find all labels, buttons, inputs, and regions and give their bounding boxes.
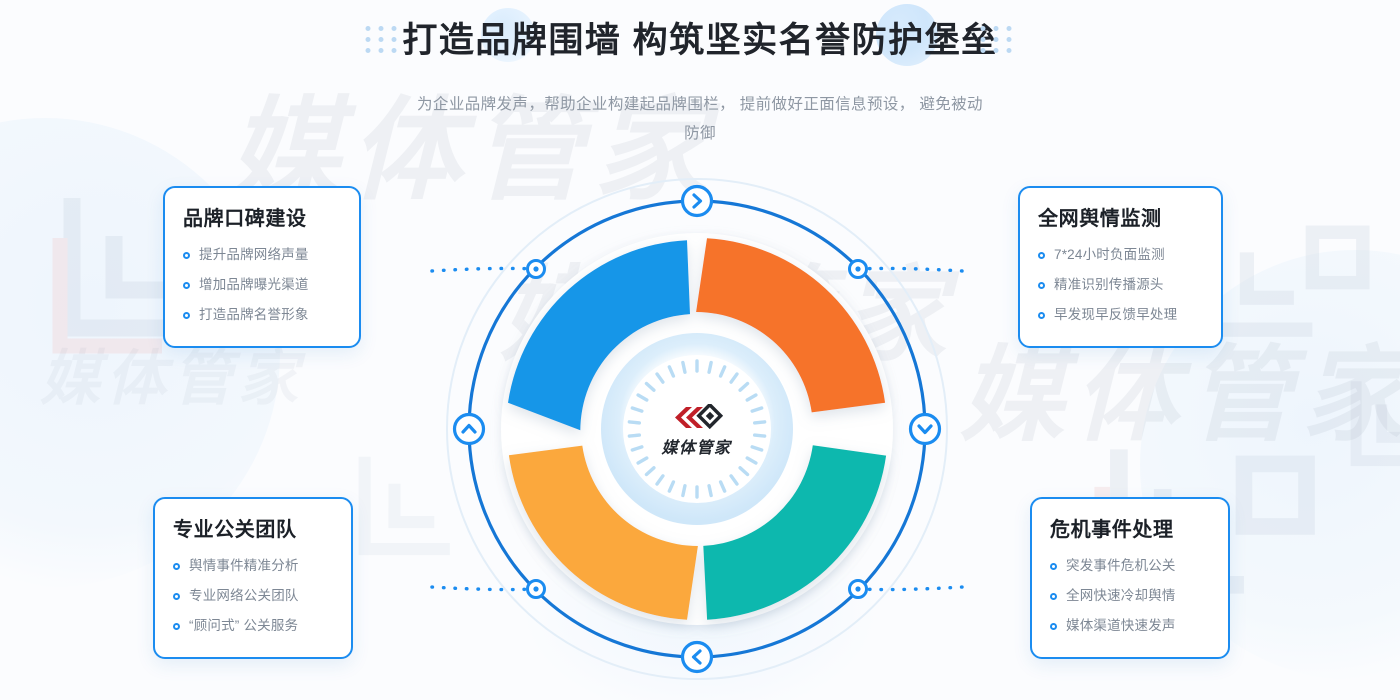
list-item-label: 精准识别传播源头 [1054,270,1164,300]
list-item: 7*24小时负面监测 [1038,240,1203,270]
bullet-icon [183,312,190,319]
list-item: 媒体渠道快速发声 [1050,611,1210,641]
hub-diagram: 媒体管家 [425,168,970,690]
page-header: 打造品牌围墙 构筑坚实名誉防护堡垒 为企业品牌发声，帮助企业构建起品牌围栏， 提… [0,0,1400,148]
bullet-icon [173,623,180,630]
list-item-label: 早发现早反馈早处理 [1054,300,1177,330]
page-subtitle: 为企业品牌发声，帮助企业构建起品牌围栏， 提前做好正面信息预设， 避免被动防御 [415,90,985,148]
list-item-label: 打造品牌名誉形象 [199,300,309,330]
list-item-label: 提升品牌网络声量 [199,240,309,270]
dot-grid-left-icon [366,26,399,53]
list-item: 打造品牌名誉形象 [183,300,341,330]
connector-line-top-left [425,268,536,276]
bullet-icon [1050,623,1057,630]
card-title: 危机事件处理 [1050,513,1210,542]
center-logo: 媒体管家 [639,373,755,489]
watermark-logo-icon [1338,369,1400,486]
list-item-label: 7*24小时负面监测 [1054,240,1165,270]
card-title: 品牌口碑建设 [183,202,341,231]
list-item: 突发事件危机公关 [1050,551,1210,581]
card-title: 全网舆情监测 [1038,202,1203,231]
card-item-list: 突发事件危机公关 全网快速冷却舆情 媒体渠道快速发声 [1050,551,1210,641]
list-item-label: 增加品牌曝光渠道 [199,270,309,300]
list-item: 专业网络公关团队 [173,581,333,611]
list-item-label: 媒体渠道快速发声 [1066,611,1176,641]
bullet-icon [183,252,190,259]
connector-line-top-right [858,268,970,276]
list-item-label: 突发事件危机公关 [1066,551,1176,581]
list-item: 全网快速冷却舆情 [1050,581,1210,611]
list-item: 舆情事件精准分析 [173,551,333,581]
connector-node-top-right[interactable] [850,261,867,278]
list-item: 早发现早反馈早处理 [1038,300,1203,330]
card-title: 专业公关团队 [173,513,333,542]
card-pr-team[interactable]: 专业公关团队 舆情事件精准分析 专业网络公关团队 “顾问式” 公关服务 [153,497,353,659]
list-item-label: 舆情事件精准分析 [189,551,299,581]
card-item-list: 舆情事件精准分析 专业网络公关团队 “顾问式” 公关服务 [173,551,333,641]
ring-button-bottom[interactable] [683,643,712,672]
dot-grid-right-icon [981,26,1014,53]
list-item: “顾问式” 公关服务 [173,611,333,641]
bullet-icon [1050,593,1057,600]
bullet-icon [1038,282,1045,289]
card-item-list: 提升品牌网络声量 增加品牌曝光渠道 打造品牌名誉形象 [183,240,341,330]
page-title: 打造品牌围墙 构筑坚实名誉防护堡垒 [402,12,997,63]
connector-node-top-left[interactable] [528,261,545,278]
logo-text: 媒体管家 [661,434,731,458]
list-item: 增加品牌曝光渠道 [183,270,341,300]
card-public-opinion-monitoring[interactable]: 全网舆情监测 7*24小时负面监测 精准识别传播源头 早发现早反馈早处理 [1018,186,1223,348]
bullet-icon [1038,252,1045,259]
bullet-icon [173,593,180,600]
bullet-icon [173,563,180,570]
brand-mark-icon [671,404,723,431]
connector-node-bottom-right[interactable] [850,581,867,598]
connector-line-bottom-right [858,582,970,590]
bullet-icon [1050,563,1057,570]
connector-line-bottom-left [425,582,536,590]
title-wrap: 打造品牌围墙 构筑坚实名誉防护堡垒 [0,0,1400,74]
ring-button-left[interactable] [455,415,484,444]
ring-button-right[interactable] [911,415,940,444]
list-item: 精准识别传播源头 [1038,270,1203,300]
list-item-label: 专业网络公关团队 [189,581,299,611]
bullet-icon [183,282,190,289]
list-item-label: 全网快速冷却舆情 [1066,581,1176,611]
ring-button-top[interactable] [683,187,712,216]
bullet-icon [1038,312,1045,319]
card-crisis-handling[interactable]: 危机事件处理 突发事件危机公关 全网快速冷却舆情 媒体渠道快速发声 [1030,497,1230,659]
connector-node-bottom-left[interactable] [528,581,545,598]
list-item-label: “顾问式” 公关服务 [189,611,298,641]
list-item: 提升品牌网络声量 [183,240,341,270]
card-item-list: 7*24小时负面监测 精准识别传播源头 早发现早反馈早处理 [1038,240,1203,330]
card-brand-reputation[interactable]: 品牌口碑建设 提升品牌网络声量 增加品牌曝光渠道 打造品牌名誉形象 [163,186,361,348]
